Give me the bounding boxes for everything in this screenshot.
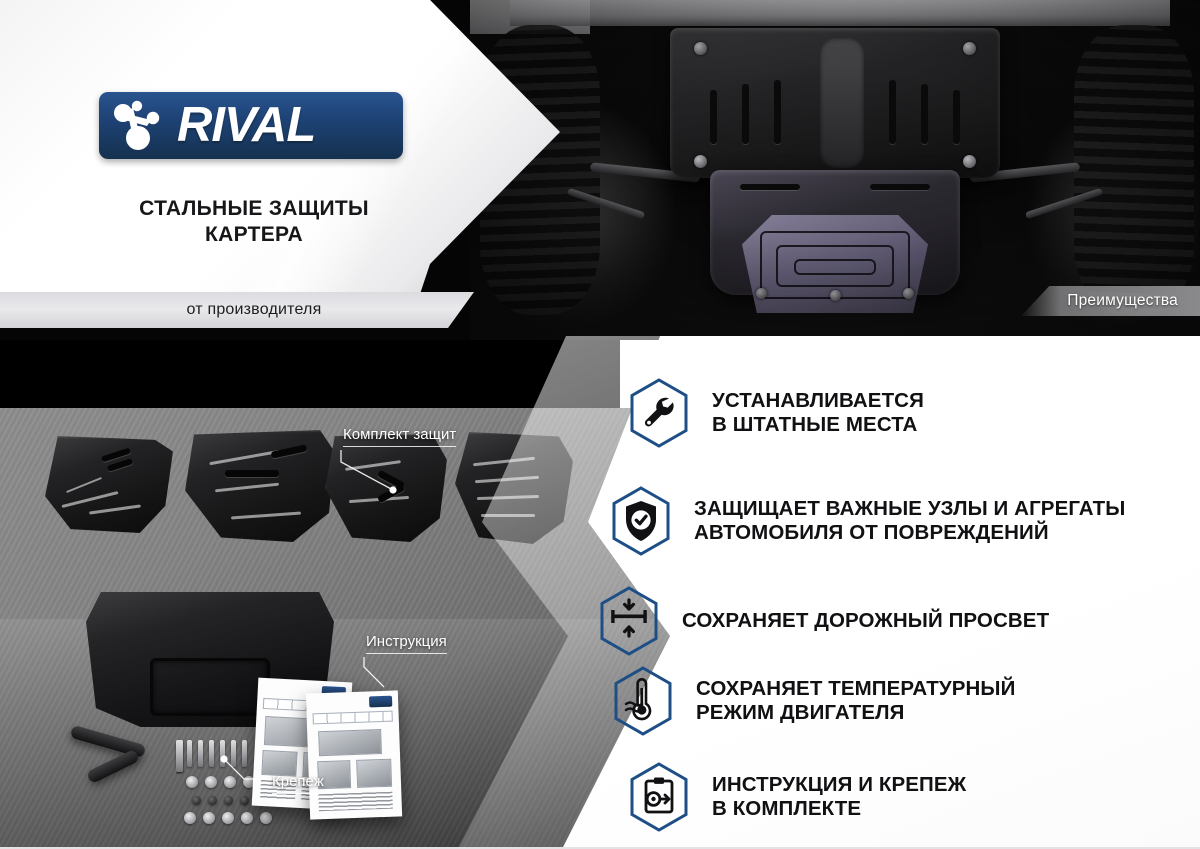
advantage-item-4: СОХРАНЯЕТ ТЕМПЕРАТУРНЫЙ РЕЖИМ ДВИГАТЕЛЯ [612, 666, 1015, 736]
bumper-strip [510, 0, 1170, 26]
advantage-item-5: ИНСТРУКЦИЯ И КРЕПЕЖ В КОМПЛЕКТЕ [628, 762, 966, 832]
advantage-text-5: ИНСТРУКЦИЯ И КРЕПЕЖ В КОМПЛЕКТЕ [712, 773, 966, 821]
hero-skid-plate-front [742, 215, 928, 313]
tyre-right [1074, 25, 1194, 315]
advantage-item-2: ЗАЩИЩАЕТ ВАЖНЫЕ УЗЛЫ И АГРЕГАТЫ АВТОМОБИ… [610, 486, 1125, 556]
rival-molecule-icon [107, 98, 181, 154]
advantage-text-1: УСТАНАВЛИВАЕТСЯ В ШТАТНЫЕ МЕСТА [712, 389, 924, 437]
advantage-line1: ЗАЩИЩАЕТ ВАЖНЫЕ УЗЛЫ И АГРЕГАТЫ [694, 497, 1125, 521]
advantage-line1: ИНСТРУКЦИЯ И КРЕПЕЖ [712, 773, 966, 797]
clipboard-bolt-icon [628, 762, 690, 832]
shield-check-icon [610, 486, 672, 556]
advantages-list: УСТАНАВЛИВАЕТСЯ В ШТАТНЫЕ МЕСТА ЗАЩИЩАЕТ… [500, 336, 1200, 849]
poster-root: Преимущества RIVAL СТАЛЬНЫЕ ЗАЩИТЫ КАРТЕ… [0, 0, 1200, 849]
advantage-text-3: СОХРАНЯЕТ ДОРОЖНЫЙ ПРОСВЕТ [682, 609, 1049, 633]
brand-logo: RIVAL [99, 92, 403, 159]
thermometer-icon [612, 666, 674, 736]
wrench-icon [628, 378, 690, 448]
advantage-line2: РЕЖИМ ДВИГАТЕЛЯ [696, 701, 1015, 725]
advantage-item-1: УСТАНАВЛИВАЕТСЯ В ШТАТНЫЕ МЕСТА [628, 378, 924, 448]
advantage-line2: В ШТАТНЫЕ МЕСТА [712, 413, 924, 437]
advantages-tab-label: Преимущества [1067, 292, 1178, 310]
washer-row-3 [184, 812, 272, 824]
advantage-line2: АВТОМОБИЛЯ ОТ ПОВРЕЖДЕНИЙ [694, 521, 1125, 545]
callout-instruction: Инструкция [366, 633, 447, 654]
advantages-tab: Преимущества [1021, 286, 1200, 316]
advantage-text-2: ЗАЩИЩАЕТ ВАЖНЫЕ УЗЛЫ И АГРЕГАТЫ АВТОМОБИ… [694, 497, 1125, 545]
advantage-line1: СОХРАНЯЕТ ТЕМПЕРАТУРНЫЙ [696, 677, 1015, 701]
callout-instruction-label: Инструкция [366, 633, 447, 654]
advantage-line2: В КОМПЛЕКТЕ [712, 797, 966, 821]
advantage-text-4: СОХРАНЯЕТ ТЕМПЕРАТУРНЫЙ РЕЖИМ ДВИГАТЕЛЯ [696, 677, 1015, 725]
tagline-band: от производителя [0, 292, 474, 328]
callout-plate-set: Комплект защит [343, 426, 456, 447]
hero-skid-plate-upper [670, 28, 1000, 178]
callout-hardware: Крепеж [272, 773, 324, 794]
page-title-line2: КАРТЕРА [0, 222, 508, 248]
tagline-text: от производителя [153, 301, 322, 319]
page-title-line1: СТАЛЬНЫЕ ЗАЩИТЫ [0, 196, 508, 222]
page-title: СТАЛЬНЫЕ ЗАЩИТЫ КАРТЕРА [0, 196, 508, 247]
advantage-item-3: СОХРАНЯЕТ ДОРОЖНЫЙ ПРОСВЕТ [598, 586, 1049, 656]
callout-plate-set-label: Комплект защит [343, 426, 456, 447]
brand-wordmark: RIVAL [177, 101, 315, 150]
ground-clearance-icon [598, 586, 660, 656]
plate-piece-2 [185, 430, 335, 542]
advantage-line1: СОХРАНЯЕТ ДОРОЖНЫЙ ПРОСВЕТ [682, 609, 1049, 633]
advantage-line1: УСТАНАВЛИВАЕТСЯ [712, 389, 924, 413]
plate-piece-1 [45, 436, 173, 533]
washer-row-2 [192, 796, 249, 805]
